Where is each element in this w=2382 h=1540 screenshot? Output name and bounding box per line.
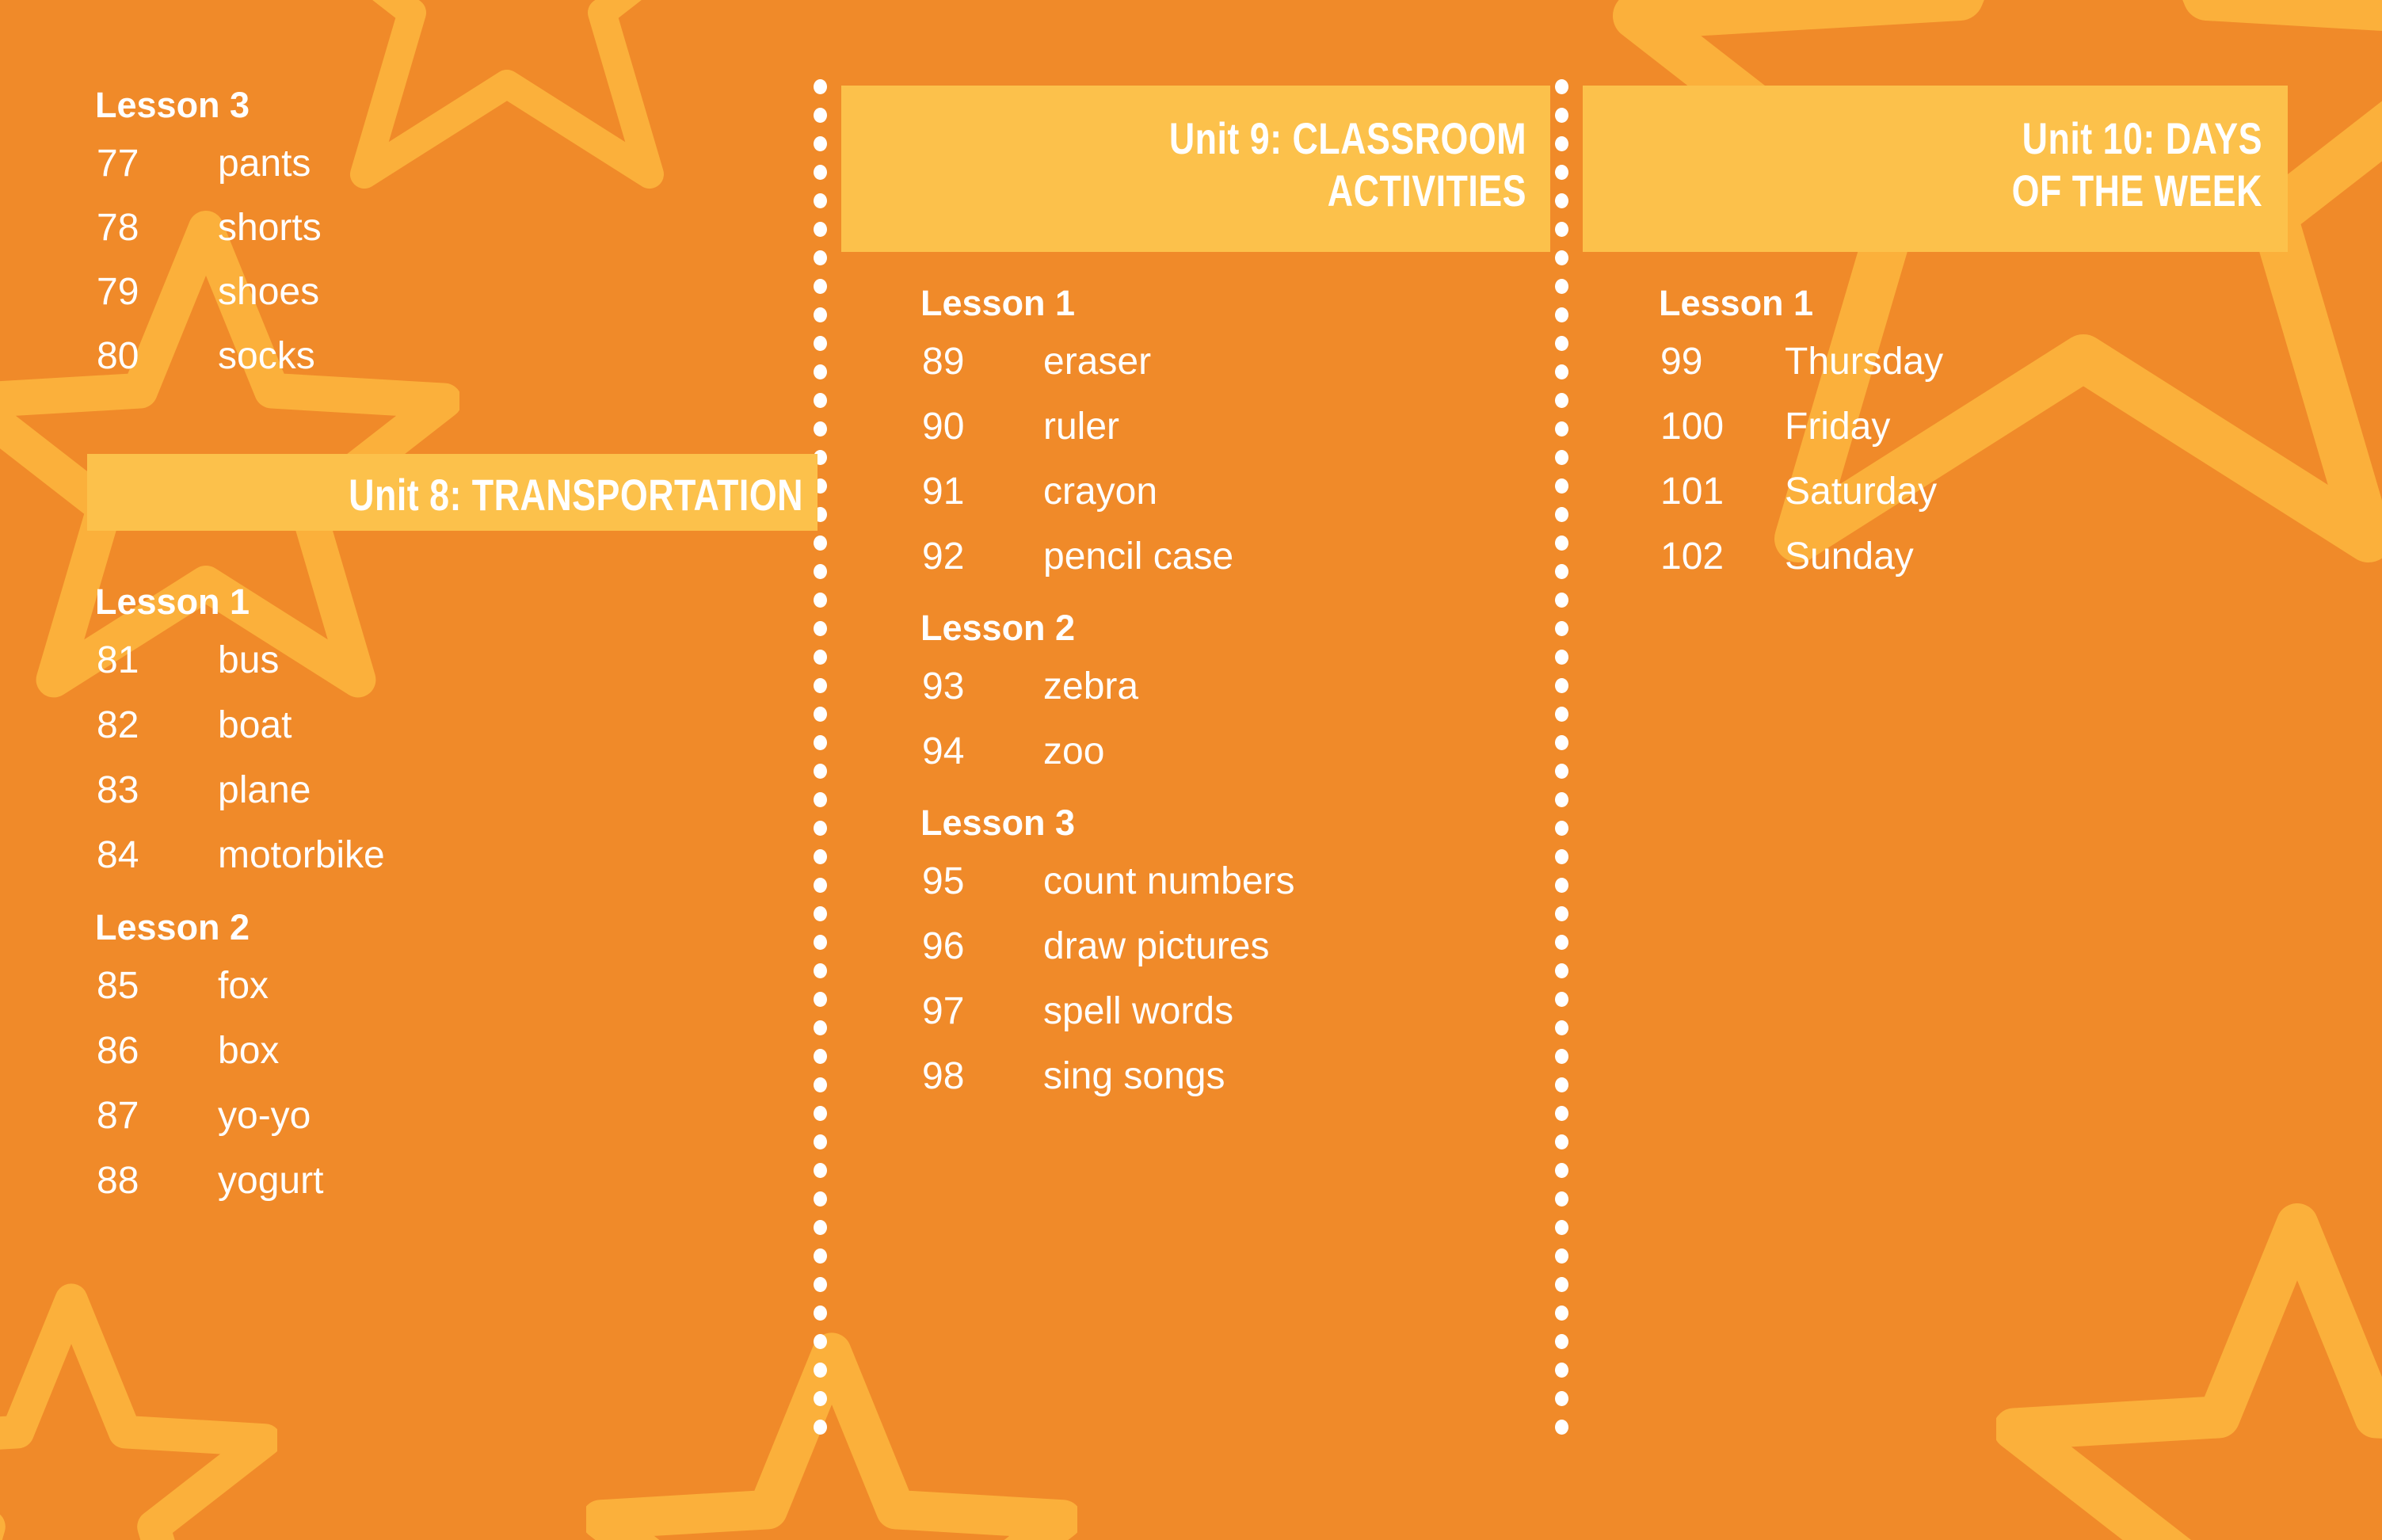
entry-word: plane bbox=[218, 769, 311, 811]
entry-word-column: fox box yo-yo yogurt bbox=[218, 967, 323, 1227]
entry-word: zebra bbox=[1043, 665, 1138, 707]
divider-dot bbox=[814, 1306, 827, 1321]
column-divider-right bbox=[1555, 79, 1568, 1438]
divider-dot bbox=[1555, 478, 1568, 494]
divider-dot bbox=[814, 1049, 827, 1064]
divider-dot bbox=[814, 1163, 827, 1178]
entry-word: shorts bbox=[218, 207, 322, 249]
divider-dot bbox=[814, 250, 827, 265]
divider-dot bbox=[1555, 735, 1568, 750]
entry-number: 100 bbox=[1660, 406, 1724, 448]
divider-dot bbox=[1555, 650, 1568, 665]
entry-word: eraser bbox=[1043, 341, 1151, 383]
star-outline-icon bbox=[269, 0, 745, 198]
entry-number: 86 bbox=[97, 1030, 139, 1072]
divider-dot bbox=[814, 421, 827, 436]
divider-dot bbox=[814, 1391, 827, 1406]
entry-word: yo-yo bbox=[218, 1095, 311, 1137]
entry-word: pants bbox=[218, 143, 311, 185]
divider-dot bbox=[1555, 1163, 1568, 1178]
divider-dot bbox=[814, 1134, 827, 1149]
lesson-heading: Lesson 1 bbox=[95, 584, 250, 619]
entry-number: 84 bbox=[97, 834, 139, 876]
entry-word: Sunday bbox=[1785, 536, 1914, 577]
entry-number: 92 bbox=[922, 536, 964, 577]
divider-dot bbox=[1555, 1363, 1568, 1378]
unit-banner-line: Unit 9: CLASSROOM bbox=[978, 112, 1526, 165]
entry-number: 91 bbox=[922, 471, 964, 513]
entry-word: socks bbox=[218, 335, 315, 377]
lesson-heading-group: Lesson 1 bbox=[920, 285, 1075, 321]
divider-dot bbox=[1555, 1248, 1568, 1264]
entry-number: 87 bbox=[97, 1095, 139, 1137]
divider-dot bbox=[1555, 1020, 1568, 1035]
divider-dot bbox=[1555, 364, 1568, 379]
divider-dot bbox=[1555, 878, 1568, 893]
divider-dot bbox=[814, 707, 827, 722]
divider-dot bbox=[814, 1077, 827, 1092]
entry-word: Friday bbox=[1785, 406, 1890, 448]
entry-word: draw pictures bbox=[1043, 925, 1269, 967]
lesson-heading: Lesson 3 bbox=[95, 87, 250, 123]
divider-dot bbox=[1555, 450, 1568, 465]
entry-word-column: Thursday Friday Saturday Sunday bbox=[1785, 343, 1943, 603]
entry-word: motorbike bbox=[218, 834, 385, 876]
lesson-heading-group: Lesson 3 bbox=[95, 87, 250, 123]
divider-dot bbox=[1555, 678, 1568, 693]
entry-number-column: 93 94 bbox=[922, 668, 964, 798]
divider-dot bbox=[814, 1106, 827, 1121]
divider-dot bbox=[814, 1334, 827, 1349]
unit-banner-line: OF THE WEEK bbox=[1719, 165, 2262, 217]
entry-number: 90 bbox=[922, 406, 964, 448]
entry-number: 78 bbox=[97, 207, 139, 249]
divider-dot bbox=[814, 1191, 827, 1206]
entry-number: 94 bbox=[922, 730, 964, 772]
unit-banner-unit-9: Unit 9: CLASSROOM ACTIVITIES bbox=[841, 86, 1550, 252]
entry-word: yogurt bbox=[218, 1160, 323, 1202]
divider-dot bbox=[814, 393, 827, 408]
divider-dot bbox=[1555, 1306, 1568, 1321]
divider-dot bbox=[1555, 279, 1568, 294]
divider-dot bbox=[814, 1220, 827, 1235]
divider-dot bbox=[1555, 507, 1568, 522]
entry-word-column: count numbers draw pictures spell words … bbox=[1043, 863, 1295, 1123]
divider-dot bbox=[814, 963, 827, 978]
divider-dot bbox=[814, 1277, 827, 1292]
lesson-heading: Lesson 1 bbox=[920, 285, 1075, 321]
entry-number: 83 bbox=[97, 769, 139, 811]
divider-dot bbox=[814, 992, 827, 1007]
entry-word: sing songs bbox=[1043, 1055, 1225, 1097]
divider-dot bbox=[1555, 1077, 1568, 1092]
entry-word: count numbers bbox=[1043, 860, 1295, 902]
divider-dot bbox=[814, 136, 827, 151]
entry-number: 79 bbox=[97, 271, 139, 313]
divider-dot bbox=[1555, 393, 1568, 408]
entry-number: 96 bbox=[922, 925, 964, 967]
divider-dot bbox=[1555, 621, 1568, 636]
entry-word: box bbox=[218, 1030, 279, 1072]
divider-dot bbox=[814, 1363, 827, 1378]
star-outline-icon bbox=[0, 1275, 277, 1540]
divider-dot bbox=[1555, 336, 1568, 351]
entry-word: Saturday bbox=[1785, 471, 1937, 513]
entry-number: 80 bbox=[97, 335, 139, 377]
entry-number: 89 bbox=[922, 341, 964, 383]
entry-word: shoes bbox=[218, 271, 319, 313]
divider-dot bbox=[814, 821, 827, 836]
lesson-heading-group: Lesson 1 bbox=[1659, 285, 1813, 321]
unit-banner-line: Unit 8: TRANSPORTATION bbox=[231, 469, 803, 521]
divider-dot bbox=[814, 849, 827, 864]
entry-number-column: 85 86 87 88 bbox=[97, 967, 139, 1227]
entry-number: 95 bbox=[922, 860, 964, 902]
entry-number: 98 bbox=[922, 1055, 964, 1097]
entry-number: 82 bbox=[97, 704, 139, 746]
entry-word: zoo bbox=[1043, 730, 1104, 772]
entry-word: bus bbox=[218, 639, 279, 681]
entry-word: boat bbox=[218, 704, 292, 746]
divider-dot bbox=[814, 1420, 827, 1435]
divider-dot bbox=[1555, 906, 1568, 921]
lesson-heading: Lesson 1 bbox=[1659, 285, 1813, 321]
divider-dot bbox=[1555, 935, 1568, 950]
entry-word: Thursday bbox=[1785, 341, 1943, 383]
unit-banner-unit-10: Unit 10: DAYS OF THE WEEK bbox=[1583, 86, 2288, 252]
entry-number-column: 99 100 101 102 bbox=[1660, 343, 1724, 603]
entry-word: pencil case bbox=[1043, 536, 1233, 577]
divider-dot bbox=[814, 1020, 827, 1035]
divider-dot bbox=[1555, 564, 1568, 579]
divider-dot bbox=[814, 165, 827, 180]
divider-dot bbox=[1555, 707, 1568, 722]
divider-dot bbox=[1555, 222, 1568, 237]
entry-word-column: pants shorts shoes socks bbox=[218, 145, 322, 402]
entry-number-column: 89 90 91 92 bbox=[922, 343, 964, 603]
divider-dot bbox=[814, 878, 827, 893]
entry-number-column: 81 82 83 84 bbox=[97, 642, 139, 902]
divider-dot bbox=[1555, 250, 1568, 265]
divider-dot bbox=[1555, 1106, 1568, 1121]
divider-dot bbox=[1555, 1420, 1568, 1435]
entry-number: 101 bbox=[1660, 471, 1724, 513]
divider-dot bbox=[1555, 1134, 1568, 1149]
divider-dot bbox=[814, 193, 827, 208]
divider-dot bbox=[814, 906, 827, 921]
entry-word: spell words bbox=[1043, 990, 1233, 1032]
divider-dot bbox=[1555, 1191, 1568, 1206]
divider-dot bbox=[1555, 1391, 1568, 1406]
divider-dot bbox=[1555, 136, 1568, 151]
divider-dot bbox=[1555, 307, 1568, 322]
lesson-heading-group: Lesson 1 bbox=[95, 584, 250, 619]
divider-dot bbox=[1555, 764, 1568, 779]
divider-dot bbox=[814, 364, 827, 379]
lesson-heading: Lesson 2 bbox=[95, 909, 250, 945]
unit-banner-line: ACTIVITIES bbox=[978, 165, 1526, 217]
divider-dot bbox=[814, 222, 827, 237]
divider-dot bbox=[814, 935, 827, 950]
entry-word-column: zebra zoo bbox=[1043, 668, 1138, 798]
divider-dot bbox=[1555, 1334, 1568, 1349]
entry-number: 77 bbox=[97, 143, 139, 185]
divider-dot bbox=[1555, 536, 1568, 551]
divider-dot bbox=[1555, 1220, 1568, 1235]
divider-dot bbox=[814, 1248, 827, 1264]
divider-dot bbox=[1555, 79, 1568, 94]
entry-word: fox bbox=[218, 965, 269, 1007]
vocabulary-index-page: Lesson 3 77 78 79 80 pants shorts shoes … bbox=[0, 0, 2382, 1540]
divider-dot bbox=[1555, 593, 1568, 608]
divider-dot bbox=[814, 764, 827, 779]
entry-number: 99 bbox=[1660, 341, 1702, 383]
entry-word-column: eraser ruler crayon pencil case bbox=[1043, 343, 1233, 603]
divider-dot bbox=[814, 279, 827, 294]
entry-number: 88 bbox=[97, 1160, 139, 1202]
divider-dot bbox=[814, 678, 827, 693]
divider-dot bbox=[814, 564, 827, 579]
lesson-heading: Lesson 2 bbox=[920, 610, 1075, 646]
divider-dot bbox=[814, 536, 827, 551]
lesson-heading-group: Lesson 3 bbox=[920, 805, 1075, 841]
divider-dot bbox=[814, 307, 827, 322]
divider-dot bbox=[1555, 1277, 1568, 1292]
entry-number: 81 bbox=[97, 639, 139, 681]
divider-dot bbox=[814, 792, 827, 807]
lesson-heading-group: Lesson 2 bbox=[920, 610, 1075, 646]
unit-banner-line: Unit 10: DAYS bbox=[1719, 112, 2262, 165]
entry-word: crayon bbox=[1043, 471, 1157, 513]
entry-number-column: 77 78 79 80 bbox=[97, 145, 139, 402]
divider-dot bbox=[814, 593, 827, 608]
divider-dot bbox=[1555, 849, 1568, 864]
divider-dot bbox=[814, 650, 827, 665]
divider-dot bbox=[1555, 165, 1568, 180]
entry-number: 102 bbox=[1660, 536, 1724, 577]
divider-dot bbox=[814, 108, 827, 123]
entry-word-column: bus boat plane motorbike bbox=[218, 642, 385, 902]
star-outline-icon bbox=[586, 1323, 1077, 1540]
divider-dot bbox=[1555, 108, 1568, 123]
entry-word: ruler bbox=[1043, 406, 1119, 448]
column-divider-left bbox=[814, 79, 827, 1438]
star-outline-icon bbox=[1996, 1188, 2382, 1540]
divider-dot bbox=[1555, 792, 1568, 807]
entry-number: 97 bbox=[922, 990, 964, 1032]
entry-number-column: 95 96 97 98 bbox=[922, 863, 964, 1123]
divider-dot bbox=[814, 735, 827, 750]
divider-dot bbox=[1555, 992, 1568, 1007]
entry-number: 93 bbox=[922, 665, 964, 707]
divider-dot bbox=[1555, 821, 1568, 836]
entry-number: 85 bbox=[97, 965, 139, 1007]
divider-dot bbox=[814, 336, 827, 351]
divider-dot bbox=[1555, 963, 1568, 978]
divider-dot bbox=[1555, 1049, 1568, 1064]
lesson-heading-group: Lesson 2 bbox=[95, 909, 250, 945]
divider-dot bbox=[814, 621, 827, 636]
divider-dot bbox=[814, 79, 827, 94]
lesson-heading: Lesson 3 bbox=[920, 805, 1075, 841]
divider-dot bbox=[1555, 421, 1568, 436]
divider-dot bbox=[1555, 193, 1568, 208]
unit-banner-unit-8: Unit 8: TRANSPORTATION bbox=[87, 454, 818, 531]
